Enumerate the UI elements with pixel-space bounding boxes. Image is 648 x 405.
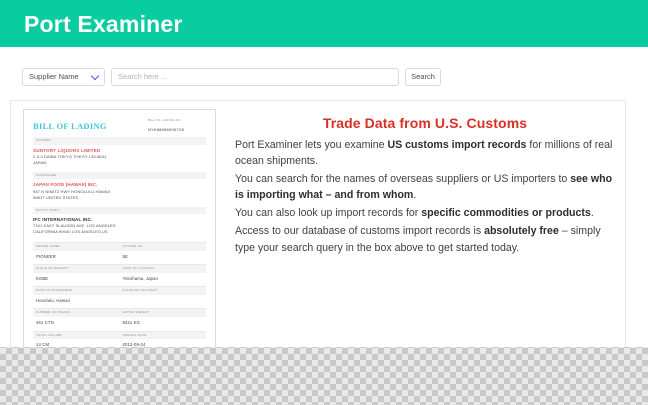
consignee-label: CONSIGNEE — [33, 172, 206, 180]
table-row: 14 CM 2012-09-24 — [33, 339, 206, 347]
cell-value: KOBE — [33, 273, 120, 286]
cell-label: TOTAL VOLUME — [33, 331, 120, 340]
intro-p2-a: You can search for the names of overseas… — [235, 173, 570, 185]
page-sheet: Port Examiner Supplier Name Search here … — [0, 0, 648, 347]
notify-party-address-line-2: CALIFORNIA 90040 LOS ANGELES US — [33, 229, 206, 235]
bill-of-lading-number-block: BILL OF LADING NO. NYK580660057G0 — [148, 119, 206, 132]
cell-value: Honolulu, Hawaii — [33, 295, 120, 308]
table-row: PORT OF DISCHARGE PLACE OF DELIVERY — [33, 286, 206, 295]
bill-of-lading-card[interactable]: BILL OF LADING BILL OF LADING NO. NYK580… — [23, 109, 216, 347]
table-row: NUMBER OF PIECES GROSS WEIGHT — [33, 308, 206, 317]
cell-value: 14 CM — [33, 339, 120, 347]
search-bar: Supplier Name Search here ... Search — [22, 68, 441, 86]
intro-paragraph-4: Access to our database of customs import… — [235, 223, 615, 255]
consignee-address-line-2: 96817 UNITED STATES — [33, 195, 206, 201]
cell-value: PIONEER — [33, 251, 120, 264]
intro-p1-a: Port Examiner lets you examine — [235, 139, 388, 151]
intro-paragraph-2: You can search for the names of overseas… — [235, 171, 615, 203]
search-category-value: Supplier Name — [29, 73, 79, 81]
table-row: TOTAL VOLUME ARRIVAL DATE — [33, 331, 206, 340]
intro-p3-c: . — [591, 207, 594, 219]
search-button[interactable]: Search — [405, 68, 441, 86]
cell-value: 2012-09-24 — [120, 339, 207, 347]
intro-p4-b: absolutely free — [484, 225, 559, 237]
search-input[interactable]: Search here ... — [111, 68, 399, 86]
intro-p2-c: . — [413, 189, 416, 201]
intro-p3-b: specific commodities or products — [421, 207, 591, 219]
search-button-label: Search — [411, 73, 435, 81]
cell-value — [120, 295, 207, 303]
table-row: 461 CTN 8421 KG — [33, 317, 206, 330]
cell-value: 8421 KG — [120, 317, 207, 330]
site-title: Port Examiner — [24, 11, 183, 38]
intro-block: Trade Data from U.S. Customs Port Examin… — [235, 111, 615, 258]
cell-label: NUMBER OF PIECES — [33, 308, 120, 317]
cell-value: 461 CTN — [33, 317, 120, 330]
cell-label: ARRIVAL DATE — [120, 331, 207, 340]
cell-label: PLACE OF RECEIPT — [33, 264, 120, 273]
search-input-placeholder: Search here ... — [118, 73, 167, 81]
cell-value: Yokohama, Japan — [120, 273, 207, 286]
table-row: PIONEER 5E — [33, 251, 206, 264]
intro-p3-a: You can also look up import records for — [235, 207, 421, 219]
cell-label: VOYAGE NO — [120, 242, 207, 251]
intro-p1-b: US customs import records — [388, 139, 527, 151]
cell-value: 5E — [120, 251, 207, 264]
bill-of-lading-number-value: NYK580660057G0 — [148, 127, 206, 132]
table-row: Honolulu, Hawaii — [33, 295, 206, 308]
table-row: VESSEL NAME VOYAGE NO — [33, 242, 206, 251]
cell-label: GROSS WEIGHT — [120, 308, 207, 317]
site-header: Port Examiner — [0, 0, 648, 47]
cell-label: VESSEL NAME — [33, 242, 120, 251]
search-category-select[interactable]: Supplier Name — [22, 68, 105, 86]
cell-label: PORT OF LOADING — [120, 264, 207, 273]
bill-of-lading-number-label: BILL OF LADING NO. — [148, 119, 206, 123]
shipment-details-table: VESSEL NAME VOYAGE NO PIONEER 5E PLACE O… — [33, 242, 206, 347]
shipper-address-line-2: JAPAN — [33, 160, 206, 166]
content-panel: BILL OF LADING BILL OF LADING NO. NYK580… — [10, 100, 626, 347]
cell-label: PORT OF DISCHARGE — [33, 286, 120, 295]
page-title: Trade Data from U.S. Customs — [235, 115, 615, 131]
intro-paragraph-3: You can also look up import records for … — [235, 205, 615, 221]
intro-paragraph-1: Port Examiner lets you examine US custom… — [235, 137, 615, 169]
chevron-down-icon — [91, 72, 99, 80]
table-row: PLACE OF RECEIPT PORT OF LOADING — [33, 264, 206, 273]
cell-label: PLACE OF DELIVERY — [120, 286, 207, 295]
intro-p4-a: Access to our database of customs import… — [235, 225, 484, 237]
shipper-label: SHIPPER — [33, 137, 206, 145]
table-row: KOBE Yokohama, Japan — [33, 273, 206, 286]
notify-party-label: NOTIFY PARTY — [33, 207, 206, 215]
